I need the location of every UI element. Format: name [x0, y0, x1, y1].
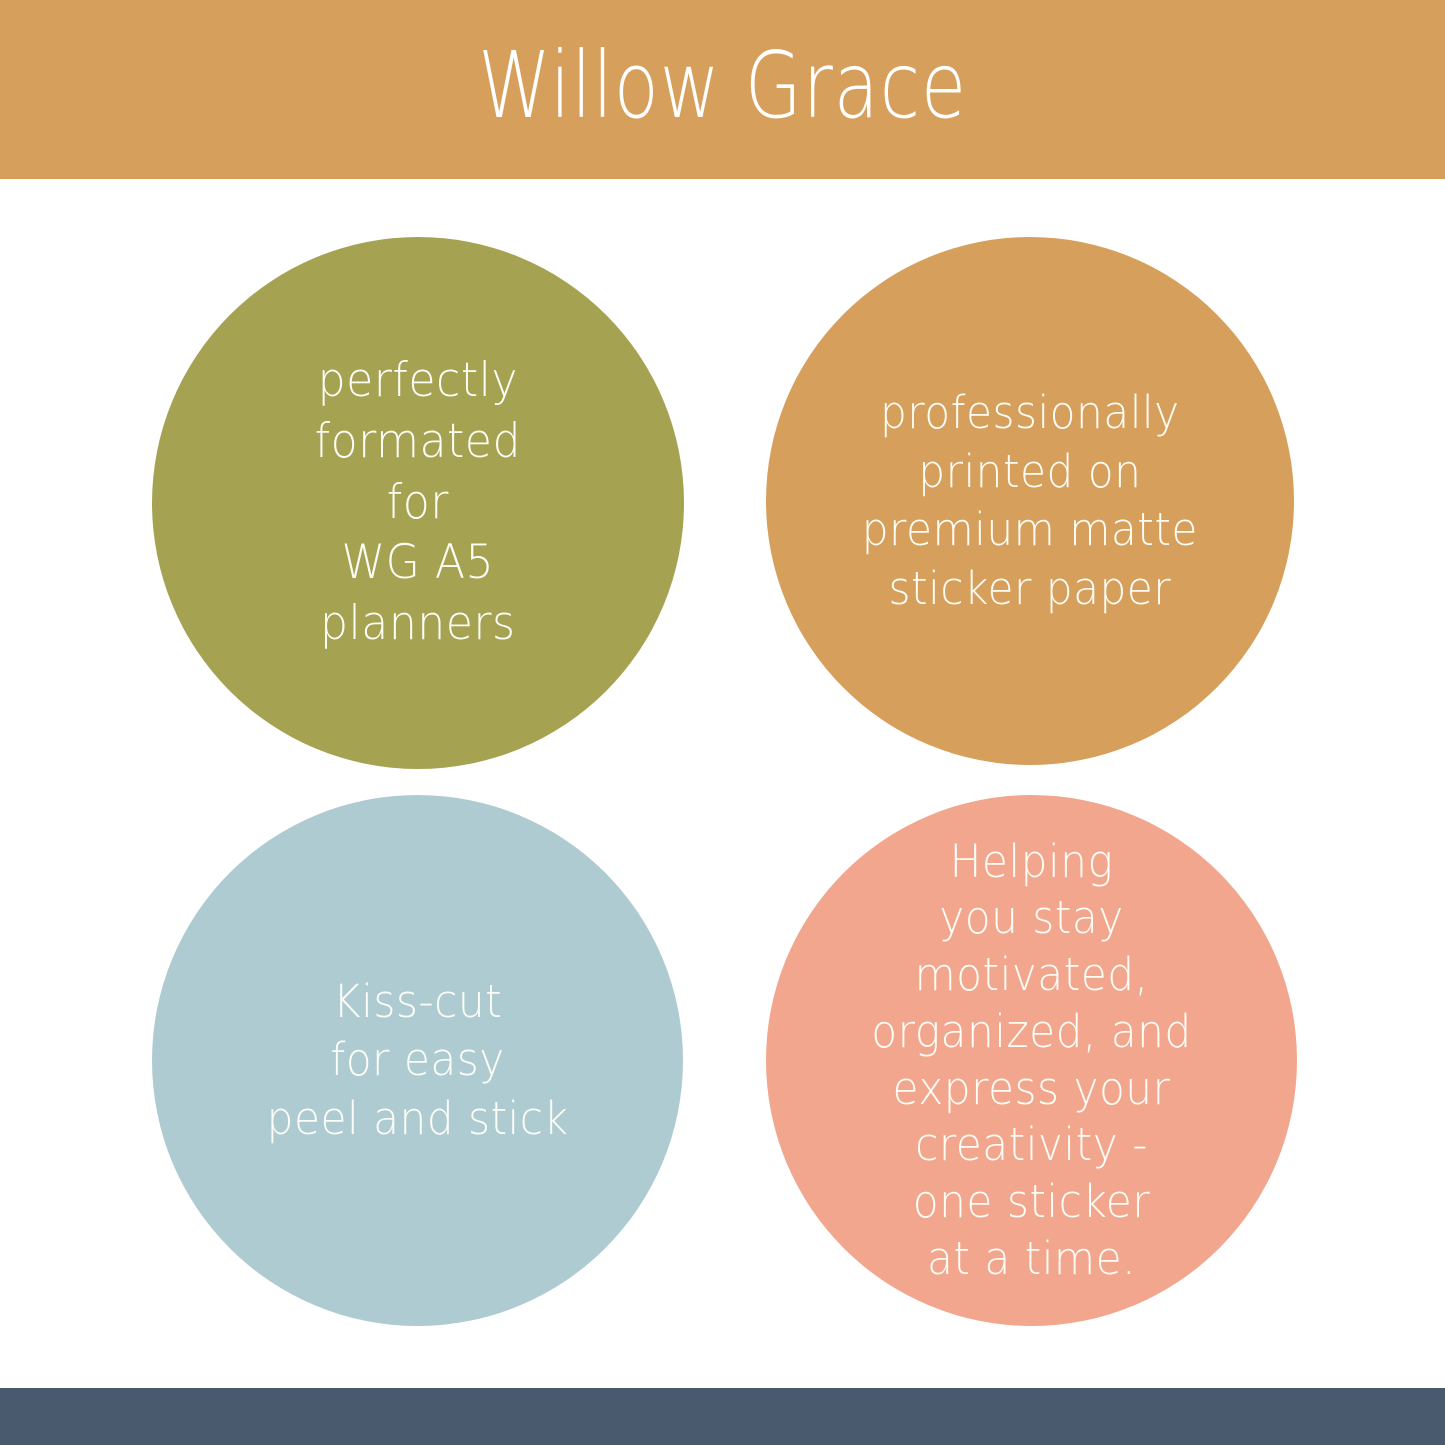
feature-circle-kisscut-label: Kiss-cut for easy peel and stick: [244, 973, 591, 1149]
feature-circle-formated-label: perfectly formated for WG A5 planners: [292, 351, 544, 654]
feature-circle-mission: Helping you stay motivated, organized, a…: [766, 795, 1297, 1326]
product-info-graphic: Willow Grace perfectly formated for WG A…: [0, 0, 1445, 1445]
feature-circle-grid: perfectly formated for WG A5 planners pr…: [0, 179, 1445, 1388]
feature-circle-kisscut: Kiss-cut for easy peel and stick: [152, 795, 683, 1326]
feature-circle-printed-label: professionally printed on premium matte …: [839, 384, 1220, 618]
footer-band: [0, 1388, 1445, 1445]
feature-circle-printed: professionally printed on premium matte …: [766, 237, 1294, 765]
feature-circle-formated: perfectly formated for WG A5 planners: [152, 237, 684, 769]
page-title: Willow Grace: [145, 0, 1301, 179]
feature-circle-mission-label: Helping you stay motivated, organized, a…: [849, 834, 1215, 1288]
